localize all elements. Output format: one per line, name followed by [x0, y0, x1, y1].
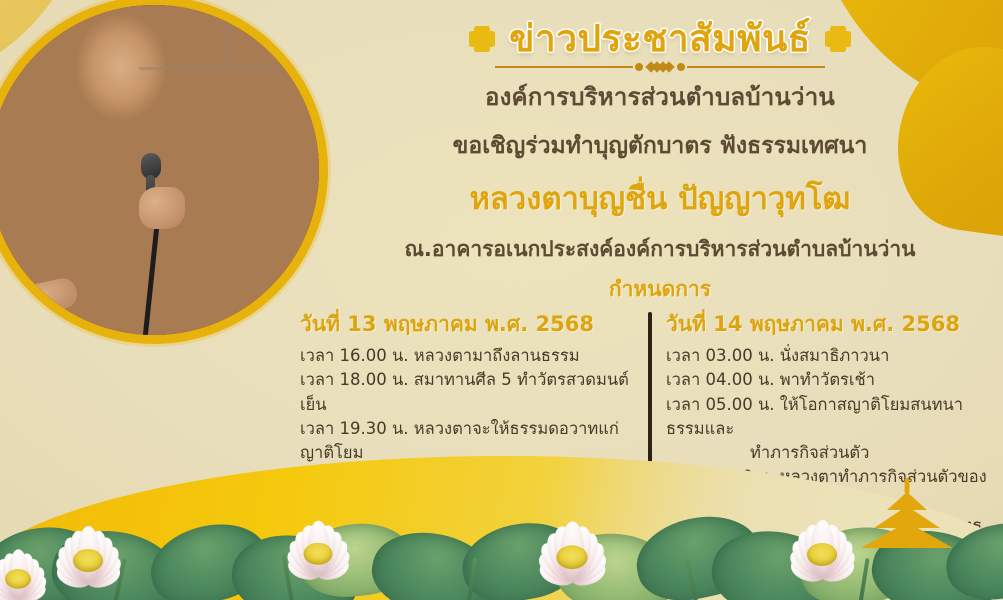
- day1-item: เวลา 16.00 น. หลวงตามาถึงลานธรรม: [300, 344, 632, 368]
- monk-photo-image: [0, 5, 319, 335]
- poster-canvas: ข่าวประชาสัมพันธ์ องค์การบริหารส่วนตำบลบ…: [0, 0, 1003, 600]
- pagoda-spire: [905, 478, 910, 494]
- rule-dot-left: [635, 63, 643, 71]
- pagoda-tier-top: [887, 492, 927, 510]
- day1-date-heading: วันที่ 13 พฤษภาคม พ.ศ. 2568: [300, 308, 632, 341]
- lotus-seed-pod: [304, 543, 333, 565]
- lotus-flower: [260, 496, 375, 584]
- title-underline-ornament: [495, 62, 825, 72]
- monk-portrait: [0, 0, 328, 344]
- monk-hand-holding-microphone: [139, 187, 185, 229]
- lotus-seed-pod: [807, 543, 837, 566]
- lotus-seed-pod: [556, 545, 587, 569]
- day2-item: เวลา 04.00 น. พาทำวัตรเช้า: [666, 368, 1000, 392]
- day2-item: เวลา 05.00 น. ให้โอกาสญาติโยมสนทนาธรรมแล…: [666, 393, 1000, 442]
- monk-name: หลวงตาบุญชื่น ปัญญาวุทโฒ: [330, 173, 990, 223]
- header-block: ข่าวประชาสัมพันธ์ องค์การบริหารส่วนตำบลบ…: [330, 18, 990, 306]
- lotus-flower: [0, 527, 70, 600]
- agenda-label: กำหนดการ: [330, 273, 990, 306]
- lotus-flower: [510, 494, 635, 590]
- invitation-line: ขอเชิญร่วมทำบุญตักบาตร ฟังธรรมเทศนา: [330, 128, 990, 164]
- lotus-seed-pod: [73, 549, 103, 572]
- microphone-cable: [142, 213, 160, 341]
- photo-wall-seam-horizontal: [139, 67, 328, 70]
- monk-left-hand: [22, 276, 79, 316]
- photo-wall-seam-vertical: [227, 5, 230, 71]
- flower-ornament-right-icon: [825, 26, 851, 52]
- golden-pagoda-icon: [859, 478, 955, 548]
- title-rule-right: [687, 66, 825, 68]
- day1-item: เวลา 18.00 น. สมาทานศีล 5 ทำวัตรสวดมนต์เ…: [300, 368, 632, 417]
- lotus-seed-pod: [5, 569, 31, 589]
- venue-line: ณ.อาคารอเนกประสงค์องค์การบริหารส่วนตำบลบ…: [330, 233, 990, 266]
- flower-ornament-left-icon: [469, 26, 495, 52]
- title-rule-left: [495, 66, 633, 68]
- day2-date-heading: วันที่ 14 พฤษภาคม พ.ศ. 2568: [666, 308, 1000, 341]
- title-row: ข่าวประชาสัมพันธ์: [330, 18, 990, 61]
- rule-dot-right: [677, 63, 685, 71]
- page-title: ข่าวประชาสัมพันธ์: [509, 18, 811, 61]
- day2-item: เวลา 03.00 น. นั่งสมาธิภาวนา: [666, 344, 1000, 368]
- organization-name: องค์การบริหารส่วนตำบลบ้านว่าน: [330, 77, 990, 116]
